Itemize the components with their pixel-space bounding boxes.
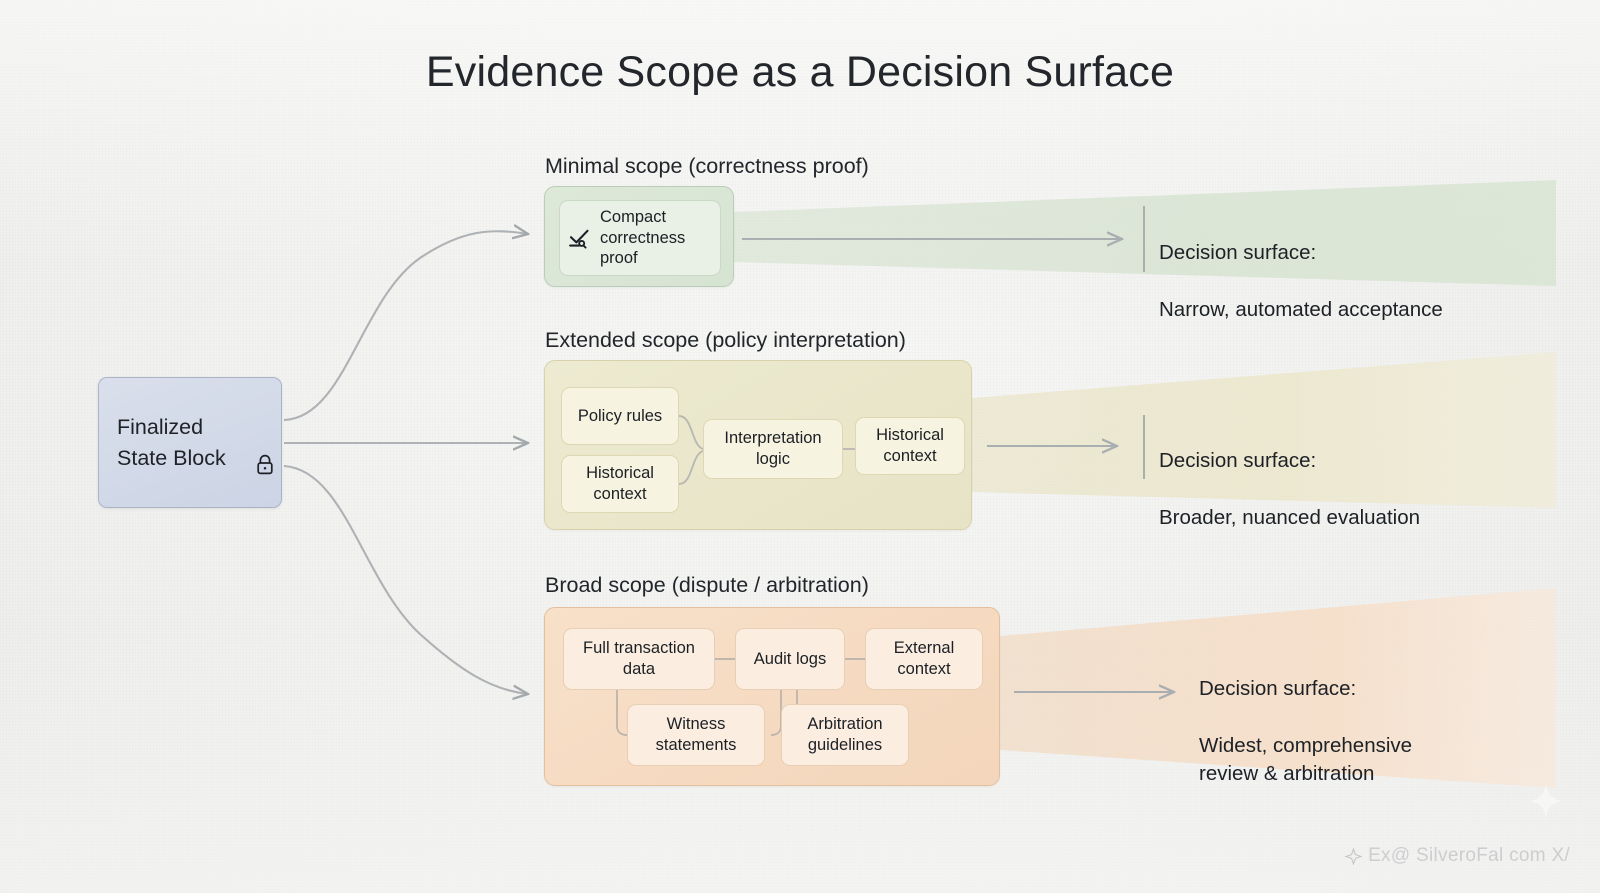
scope-container-minimal: Compact correctness proof [544,186,734,287]
watermark-text: Ex@ SilveroFal com X/ [1368,845,1570,867]
finalized-state-block-node[interactable]: Finalized State Block [98,377,282,508]
item-label: Historical context [586,463,654,504]
item-label: Historical context [876,425,944,466]
decision-detail: Broader, nuanced evaluation [1159,504,1420,532]
scope-title-broad: Broad scope (dispute / arbitration) [545,573,869,598]
scope-title-minimal: Minimal scope (correctness proof) [545,154,869,179]
decision-detail: Widest, comprehensive review & arbitrati… [1199,732,1412,789]
item-label: External context [894,638,955,679]
item-label: Full transaction data [583,638,695,679]
item-label: Witness statements [656,714,737,755]
decision-divider-minimal [1143,206,1145,272]
item-arbitration-guidelines[interactable]: Arbitration guidelines [781,704,909,766]
verified-check-icon [566,224,594,252]
scope-container-broad: Full transaction data Audit logs Externa… [544,607,1000,786]
item-historical-context-right[interactable]: Historical context [855,417,965,475]
decision-divider-extended [1143,415,1145,479]
decision-detail: Narrow, automated acceptance [1159,296,1443,324]
item-historical-context-left[interactable]: Historical context [561,455,679,513]
item-audit-logs[interactable]: Audit logs [735,628,845,690]
item-label: Policy rules [578,406,662,427]
item-label: Arbitration guidelines [807,714,882,755]
item-label: Compact correctness proof [600,207,685,269]
scope-container-extended: Policy rules Historical context Interpre… [544,360,972,530]
item-full-transaction-data[interactable]: Full transaction data [563,628,715,690]
decision-heading: Decision surface: [1159,239,1443,267]
decision-label-minimal: Decision surface: Narrow, automated acce… [1159,211,1443,352]
finalized-state-block-label: Finalized State Block [117,412,226,473]
page-title: Evidence Scope as a Decision Surface [0,48,1600,97]
item-compact-correctness-proof[interactable]: Compact correctness proof [559,200,721,276]
lock-icon [256,454,275,476]
item-witness-statements[interactable]: Witness statements [627,704,765,766]
item-interpretation-logic[interactable]: Interpretation logic [703,419,843,479]
scope-title-extended: Extended scope (policy interpretation) [545,328,906,353]
item-label: Interpretation logic [724,428,821,469]
watermark: Ex@ SilveroFal com X/ [1345,845,1570,867]
decision-heading: Decision surface: [1199,675,1412,703]
item-label: Audit logs [754,649,826,670]
item-external-context[interactable]: External context [865,628,983,690]
sparkle-icon [1528,781,1564,821]
decision-label-extended: Decision surface: Broader, nuanced evalu… [1159,419,1420,560]
decision-heading: Decision surface: [1159,447,1420,475]
decision-label-broad: Decision surface: Widest, comprehensive … [1199,647,1412,817]
sparkle-icon [1345,848,1362,865]
item-policy-rules[interactable]: Policy rules [561,387,679,445]
